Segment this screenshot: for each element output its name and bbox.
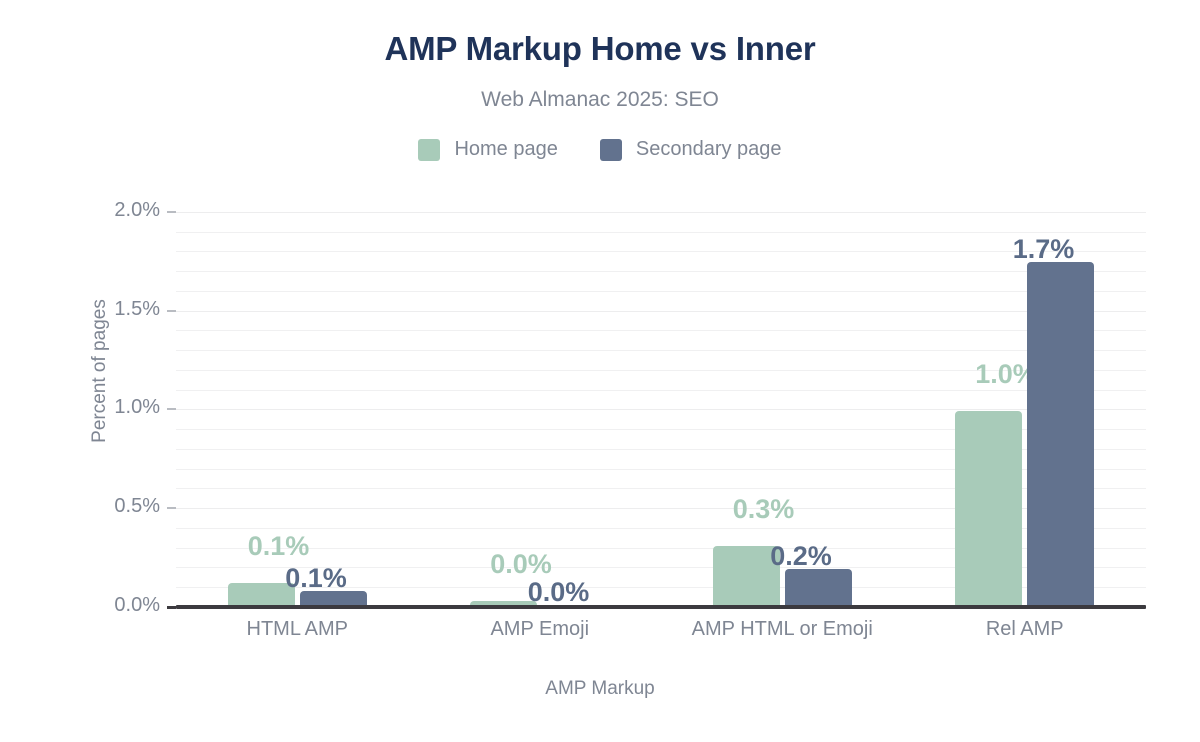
bar-value-label: 1.7%	[1013, 234, 1109, 265]
bar-value-label: 1.0%	[941, 359, 1037, 390]
gridline	[176, 212, 1146, 213]
chart-container: AMP Markup Home vs Inner Web Almanac 202…	[0, 0, 1200, 742]
legend-label: Home page	[454, 138, 557, 161]
bar-value-label: 0.0%	[528, 577, 624, 608]
gridline	[176, 330, 1146, 331]
gridline	[176, 291, 1146, 292]
y-axis-tick-mark	[167, 310, 176, 312]
bar-secondary-page[interactable]	[1027, 262, 1094, 607]
y-axis-tick-label: 0.0%	[45, 594, 160, 617]
y-axis-title: Percent of pages	[89, 299, 111, 443]
y-axis-tick-label: 0.5%	[45, 495, 160, 518]
x-axis-title: AMP Markup	[0, 678, 1200, 700]
bar-home-page[interactable]	[955, 411, 1022, 607]
legend-item-secondary-page[interactable]: Secondary page	[600, 138, 782, 161]
gridline	[176, 232, 1146, 233]
y-axis-tick-mark	[167, 211, 176, 213]
y-axis-tick-mark	[167, 408, 176, 410]
x-axis-baseline	[176, 605, 1146, 609]
legend-item-home-page[interactable]: Home page	[418, 138, 557, 161]
gridline	[176, 311, 1146, 312]
y-axis-tick-label: 1.0%	[45, 396, 160, 419]
bar-value-label: 0.3%	[698, 494, 794, 525]
gridline	[176, 251, 1146, 252]
bar-value-label: 0.1%	[213, 531, 309, 562]
y-axis-tick-label: 2.0%	[45, 199, 160, 222]
chart-subtitle: Web Almanac 2025: SEO	[0, 88, 1200, 112]
plot-area: 0.1%0.1%0.0%0.0%0.3%0.2%1.0%1.7%	[176, 192, 1146, 607]
y-axis-tick-mark	[167, 606, 176, 609]
bar-value-label: 0.1%	[285, 563, 381, 594]
bar-secondary-page[interactable]	[785, 569, 852, 607]
y-axis-tick-mark	[167, 507, 176, 509]
gridline	[176, 409, 1146, 410]
legend-label: Secondary page	[636, 138, 782, 161]
bar-value-label: 0.2%	[770, 541, 866, 572]
legend-swatch-icon	[418, 139, 440, 161]
chart-title: AMP Markup Home vs Inner	[0, 30, 1200, 68]
chart-legend: Home pageSecondary page	[0, 138, 1200, 161]
bar-value-label: 0.0%	[456, 549, 552, 580]
legend-swatch-icon	[600, 139, 622, 161]
gridline	[176, 271, 1146, 272]
gridline	[176, 350, 1146, 351]
y-axis-tick-label: 1.5%	[45, 298, 160, 321]
x-axis-tick-label: Rel AMP	[865, 618, 1185, 641]
